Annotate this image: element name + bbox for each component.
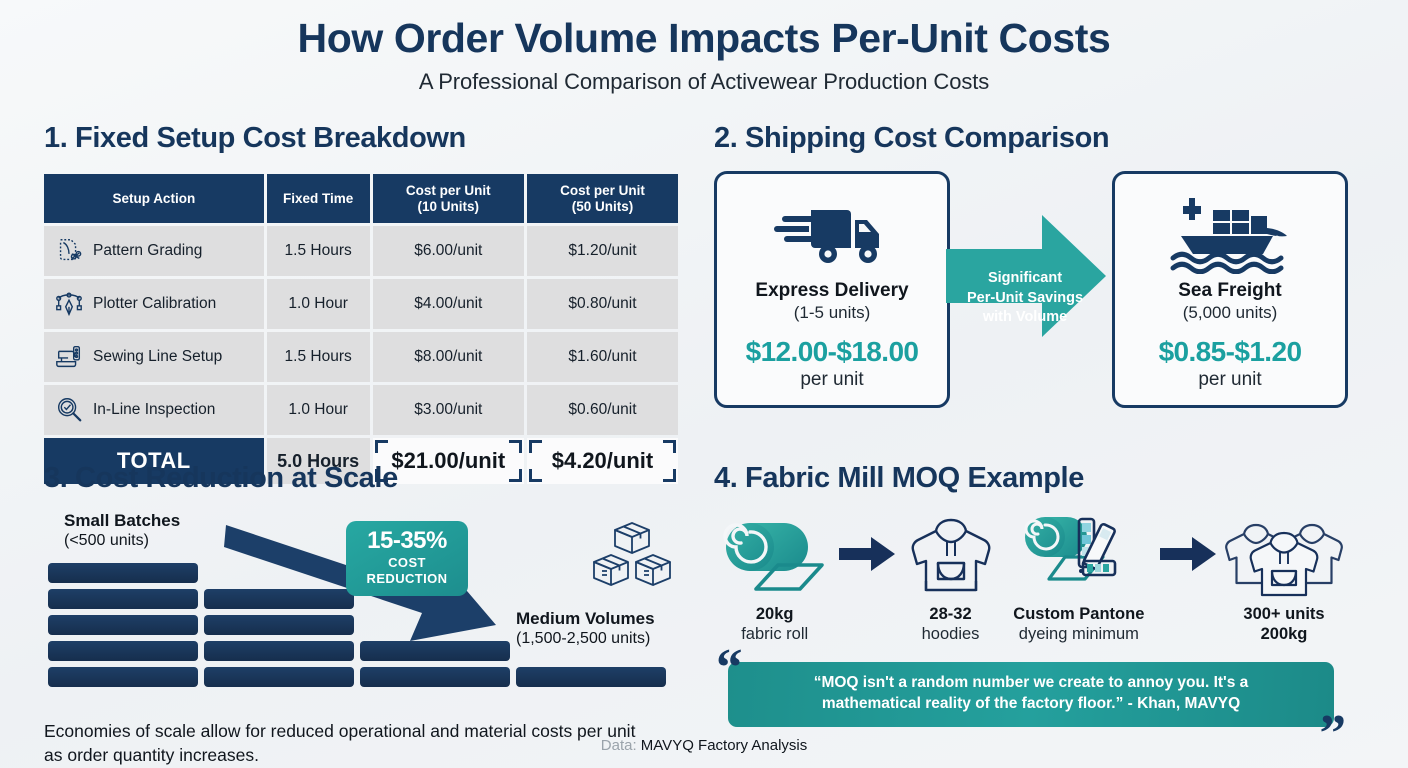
badge-value: 15-35%	[350, 527, 464, 555]
table-row: Plotter Calibration 1.0 Hour $4.00/unit …	[44, 279, 678, 329]
table-row: In-Line Inspection 1.0 Hour $3.00/unit $…	[44, 385, 678, 435]
section-fabric-moq: 4. Fabric Mill MOQ Example	[708, 458, 1408, 728]
quote-text: “MOQ isn't a random number we create to …	[728, 662, 1334, 727]
moq-label: 20kg	[714, 605, 835, 624]
cell-cost-50: $0.60/unit	[527, 385, 678, 435]
column-cost-10-units: Cost per Unit (10 Units)	[373, 174, 524, 223]
bracket-corner-icon	[529, 440, 542, 453]
medium-volumes-label: Medium Volumes (1,500-2,500 units)	[516, 609, 696, 648]
hoodie-icon	[899, 511, 1001, 597]
small-batches-label: Small Batches (<500 units)	[64, 511, 180, 550]
badge-caption: COST REDUCTION	[350, 555, 464, 587]
setup-action-label: In-Line Inspection	[93, 401, 215, 419]
setup-action-label: Plotter Calibration	[93, 295, 216, 313]
cost-reduction-badge: 15-35% COST REDUCTION	[346, 521, 468, 596]
pattern-grading-icon	[54, 236, 84, 266]
section1-title: 1. Fixed Setup Cost Breakdown	[44, 122, 666, 155]
cell-cost-10: $8.00/unit	[373, 332, 524, 382]
bar-block	[516, 667, 666, 687]
express-delivery-units: (1-5 units)	[725, 303, 939, 323]
quote-block: “ ” “MOQ isn't a random number we create…	[714, 662, 1348, 727]
express-delivery-name: Express Delivery	[725, 280, 939, 302]
bracket-corner-icon	[375, 440, 388, 453]
right-arrow-icon	[839, 537, 895, 571]
table-row: Sewing Line Setup 1.5 Hours $8.00/unit $…	[44, 332, 678, 382]
cell-setup-action: Sewing Line Setup	[44, 332, 264, 382]
savings-arrow: Significant Per-Unit Savings with Volume	[950, 171, 1112, 408]
flow-arrow-1	[835, 511, 899, 597]
content-grid: 1. Fixed Setup Cost Breakdown Setup Acti…	[0, 118, 1408, 728]
sea-freight-units: (5,000 units)	[1123, 303, 1337, 323]
setup-action-label: Pattern Grading	[93, 242, 202, 260]
cell-cost-50: $1.20/unit	[527, 226, 678, 276]
cell-setup-action: In-Line Inspection	[44, 385, 264, 435]
cell-cost-10: $4.00/unit	[373, 279, 524, 329]
sea-freight-per: per unit	[1123, 369, 1337, 391]
moq-sublabel: 200kg	[1220, 625, 1348, 644]
section2-title: 2. Shipping Cost Comparison	[714, 122, 1380, 155]
column-fixed-time: Fixed Time	[267, 174, 370, 223]
savings-arrow-text: Significant Per-Unit Savings with Volume	[967, 269, 1083, 328]
bar-block	[360, 667, 510, 687]
moq-step-units: 300+ units 200kg	[1220, 511, 1348, 644]
column-cost-50-units: Cost per Unit (50 Units)	[527, 174, 678, 223]
sea-freight-price: $0.85-$1.20	[1123, 336, 1337, 368]
moq-step-pantone: Custom Pantone dyeing minimum	[1002, 511, 1156, 644]
hoodie-group-icon	[1220, 511, 1348, 597]
setup-action-label: Sewing Line Setup	[93, 348, 222, 366]
cell-cost-50: $0.80/unit	[527, 279, 678, 329]
section3-title: 3. Cost Reduction at Scale	[44, 462, 666, 495]
pantone-swatch-icon	[1002, 511, 1156, 597]
moq-label: 28-32	[899, 605, 1001, 624]
bar-block	[204, 667, 354, 687]
footer: Data: MAVYQ Factory Analysis	[0, 737, 1408, 754]
shipping-comparison: Express Delivery (1-5 units) $12.00-$18.…	[714, 171, 1348, 408]
moq-label: Custom Pantone	[1002, 605, 1156, 624]
express-delivery-card: Express Delivery (1-5 units) $12.00-$18.…	[714, 171, 950, 408]
setup-cost-table: Setup Action Fixed Time Cost per Unit (1…	[41, 171, 681, 487]
bar-block	[48, 667, 198, 687]
cell-setup-action: Plotter Calibration	[44, 279, 264, 329]
footer-value: MAVYQ Factory Analysis	[641, 737, 807, 754]
cell-fixed-time: 1.0 Hour	[267, 279, 370, 329]
bracket-corner-icon	[509, 440, 522, 453]
moq-sublabel: hoodies	[899, 625, 1001, 644]
cargo-ship-icon	[1123, 188, 1337, 280]
page-subtitle: A Professional Comparison of Activewear …	[0, 69, 1408, 95]
flow-arrow-2	[1156, 511, 1220, 597]
fabric-roll-icon	[714, 511, 835, 597]
right-arrow-icon	[1160, 537, 1216, 571]
sewing-machine-icon	[54, 342, 84, 372]
footer-label: Data:	[601, 737, 637, 754]
section-cost-reduction: 3. Cost Reduction at Scale Small Batches…	[0, 458, 708, 728]
table-row: Pattern Grading 1.5 Hours $6.00/unit $1.…	[44, 226, 678, 276]
sea-freight-card: Sea Freight (5,000 units) $0.85-$1.20 pe…	[1112, 171, 1348, 408]
page-title: How Order Volume Impacts Per-Unit Costs	[0, 16, 1408, 60]
section-fixed-setup-cost: 1. Fixed Setup Cost Breakdown Setup Acti…	[0, 118, 708, 458]
table-header-row: Setup Action Fixed Time Cost per Unit (1…	[44, 174, 678, 223]
moq-step-fabric-roll: 20kg fabric roll	[714, 511, 835, 644]
cell-fixed-time: 1.5 Hours	[267, 226, 370, 276]
bar-block	[48, 563, 198, 583]
bar-block	[48, 615, 198, 635]
moq-flow: 20kg fabric roll	[714, 511, 1348, 644]
page-header: How Order Volume Impacts Per-Unit Costs …	[0, 0, 1408, 95]
cell-fixed-time: 1.0 Hour	[267, 385, 370, 435]
table-header: Setup Action Fixed Time Cost per Unit (1…	[44, 174, 678, 223]
express-delivery-price: $12.00-$18.00	[725, 336, 939, 368]
moq-label: 300+ units	[1220, 605, 1348, 624]
plotter-calibration-icon	[54, 289, 84, 319]
quote-open-icon: “	[716, 650, 743, 687]
cell-cost-10: $6.00/unit	[373, 226, 524, 276]
express-delivery-per: per unit	[725, 369, 939, 391]
cell-cost-50: $1.60/unit	[527, 332, 678, 382]
column-setup-action: Setup Action	[44, 174, 264, 223]
infographic-page: How Order Volume Impacts Per-Unit Costs …	[0, 0, 1408, 768]
section-shipping-comparison: 2. Shipping Cost Comparison	[708, 118, 1408, 458]
table-body: Pattern Grading 1.5 Hours $6.00/unit $1.…	[44, 226, 678, 484]
section4-title: 4. Fabric Mill MOQ Example	[714, 462, 1380, 495]
bar-block	[48, 589, 198, 609]
inspection-icon	[54, 395, 84, 425]
moq-step-hoodies: 28-32 hoodies	[899, 511, 1001, 644]
cell-fixed-time: 1.5 Hours	[267, 332, 370, 382]
sea-freight-name: Sea Freight	[1123, 280, 1337, 302]
stacked-boxes-icon	[589, 519, 675, 602]
bracket-corner-icon	[663, 440, 676, 453]
cell-setup-action: Pattern Grading	[44, 226, 264, 276]
moq-sublabel: dyeing minimum	[1002, 625, 1156, 644]
cell-cost-10: $3.00/unit	[373, 385, 524, 435]
cost-reduction-chart: Small Batches (<500 units)	[44, 511, 684, 691]
delivery-truck-icon	[725, 188, 939, 280]
bar-block	[48, 641, 198, 661]
